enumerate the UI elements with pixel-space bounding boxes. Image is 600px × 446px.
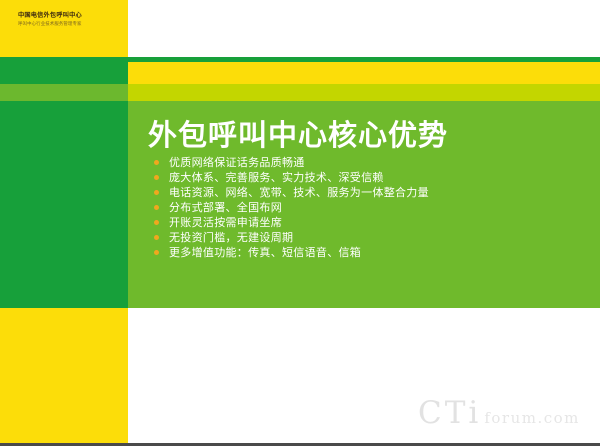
brand-logo-title: 中国电信外包呼叫中心	[18, 12, 122, 20]
brand-logo: 中国电信外包呼叫中心 呼叫中心行业技术服务管理专家	[18, 12, 122, 28]
header-brand-block	[0, 0, 128, 57]
decor-band-row-4-right	[128, 101, 600, 108]
list-item-label: 无投资门槛，无建设周期	[169, 231, 293, 244]
list-item-label: 庞大体系、完善服务、实力技术、深受信赖	[169, 171, 384, 184]
list-item: 分布式部署、全国布网	[152, 200, 582, 215]
list-item: 更多增值功能：传真、短信语音、信箱	[152, 245, 582, 260]
decor-band-row-4	[0, 101, 600, 108]
decor-band-row-2-left	[0, 62, 128, 84]
bullet-dot-icon	[154, 160, 159, 165]
list-item-label: 电话资源、网络、宽带、技术、服务为一体整合力量	[169, 186, 429, 199]
bullet-dot-icon	[154, 175, 159, 180]
watermark-secondary-text: forum.com	[484, 409, 580, 427]
decor-band-row-3	[0, 84, 600, 101]
watermark-primary-text: CTi	[418, 398, 481, 429]
watermark: CTi forum.com	[418, 398, 580, 429]
bullet-dot-icon	[154, 220, 159, 225]
list-item-label: 优质网络保证话务品质畅通	[169, 156, 305, 169]
list-item-label: 分布式部署、全国布网	[169, 201, 282, 214]
decor-band-row-2	[0, 62, 600, 84]
list-item: 无投资门槛，无建设周期	[152, 230, 582, 245]
decor-band-row-3-left	[0, 84, 128, 101]
list-item-label: 更多增值功能：传真、短信语音、信箱	[169, 246, 361, 259]
list-item-label: 开账灵活按需申请坐席	[169, 216, 282, 229]
advantages-list: 优质网络保证话务品质畅通 庞大体系、完善服务、实力技术、深受信赖 电话资源、网络…	[152, 155, 582, 260]
list-item: 优质网络保证话务品质畅通	[152, 155, 582, 170]
list-item: 电话资源、网络、宽带、技术、服务为一体整合力量	[152, 185, 582, 200]
content-left-accent-panel	[0, 108, 128, 308]
decor-band-row-2-right	[128, 62, 600, 84]
bullet-dot-icon	[154, 250, 159, 255]
bullet-dot-icon	[154, 235, 159, 240]
brand-logo-tagline: 呼叫中心行业技术服务管理专家	[18, 21, 122, 28]
page-title: 外包呼叫中心核心优势	[148, 118, 448, 152]
decor-band-row-4-left	[0, 101, 128, 108]
list-item: 庞大体系、完善服务、实力技术、深受信赖	[152, 170, 582, 185]
footer-accent-block	[0, 308, 128, 443]
content-panel: 外包呼叫中心核心优势 优质网络保证话务品质畅通 庞大体系、完善服务、实力技术、深…	[128, 108, 600, 308]
bullet-dot-icon	[154, 205, 159, 210]
slide-canvas: 中国电信外包呼叫中心 呼叫中心行业技术服务管理专家 外包呼叫中心核心优势 优质网…	[0, 0, 600, 446]
decor-band-row-3-right	[128, 84, 600, 101]
bullet-dot-icon	[154, 190, 159, 195]
list-item: 开账灵活按需申请坐席	[152, 215, 582, 230]
